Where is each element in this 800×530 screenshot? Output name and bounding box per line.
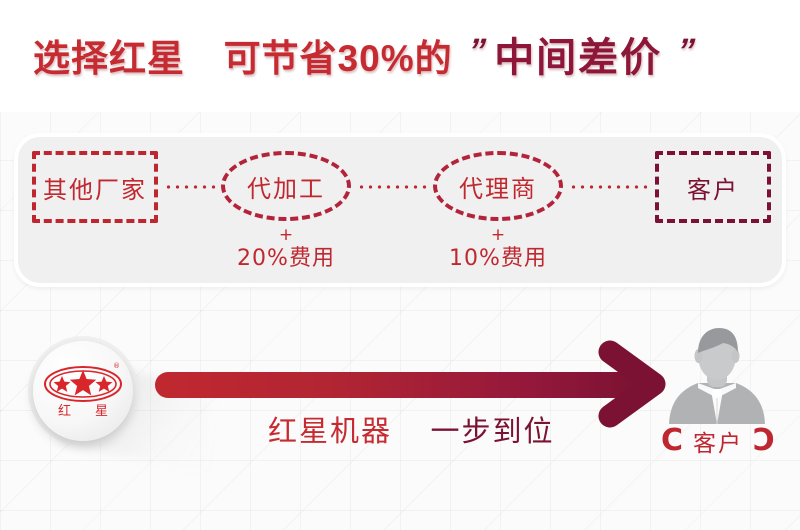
customer-label-group: C 客户 Ɔ (648, 424, 788, 458)
svg-text:星: 星 (95, 404, 108, 419)
svg-text:®: ® (113, 362, 120, 370)
chain-connector-1 (164, 185, 216, 189)
fee-label-agent: + 10%费用 (418, 226, 578, 273)
chain-node-agent-label: 代理商 (459, 169, 537, 204)
progress-arrow-head-icon (592, 338, 682, 430)
bracket-right-icon: Ɔ (753, 426, 775, 456)
title-part-one: 选择红星 (33, 38, 185, 79)
brand-tagline: 红星机器 一步到位 (268, 408, 554, 450)
tagline-part-one: 红星机器 (268, 414, 392, 448)
chain-node-client: 客户 (655, 151, 771, 223)
fee-plus-oem: + (206, 226, 366, 245)
fee-plus-agent: + (418, 226, 578, 245)
customer-label: 客户 (693, 424, 743, 458)
fee-label-oem: + 20%费用 (206, 226, 366, 273)
chain-node-oem-label: 代加工 (247, 169, 325, 204)
bracket-left-icon: C (661, 426, 683, 456)
chain-node-agent: 代理商 (433, 151, 563, 221)
brand-logo-badge: ® 红 星 (33, 341, 133, 441)
fee-amount-agent: 10%费用 (418, 245, 578, 273)
chain-connector-2 (357, 185, 427, 189)
chain-connector-3 (569, 185, 649, 189)
hongxing-logo-icon: ® 红 星 (42, 360, 124, 422)
fee-amount-oem: 20%费用 (206, 245, 366, 273)
title-emphasis: 中间差价 (494, 36, 662, 80)
page-title: 选择红星 可节省30%的 ” 中间差价 ” (33, 32, 692, 86)
quote-open-mark: ” (459, 25, 493, 77)
title-part-two: 可节省30%的 (224, 38, 453, 79)
tagline-part-two: 一步到位 (430, 414, 554, 448)
progress-arrow-shaft (155, 372, 635, 398)
chain-node-other-factory-label: 其他厂家 (43, 170, 147, 205)
chain-node-other-factory: 其他厂家 (32, 151, 158, 223)
svg-text:红: 红 (58, 403, 71, 419)
chain-node-oem: 代加工 (221, 151, 351, 221)
chain-node-client-label: 客户 (687, 170, 739, 205)
